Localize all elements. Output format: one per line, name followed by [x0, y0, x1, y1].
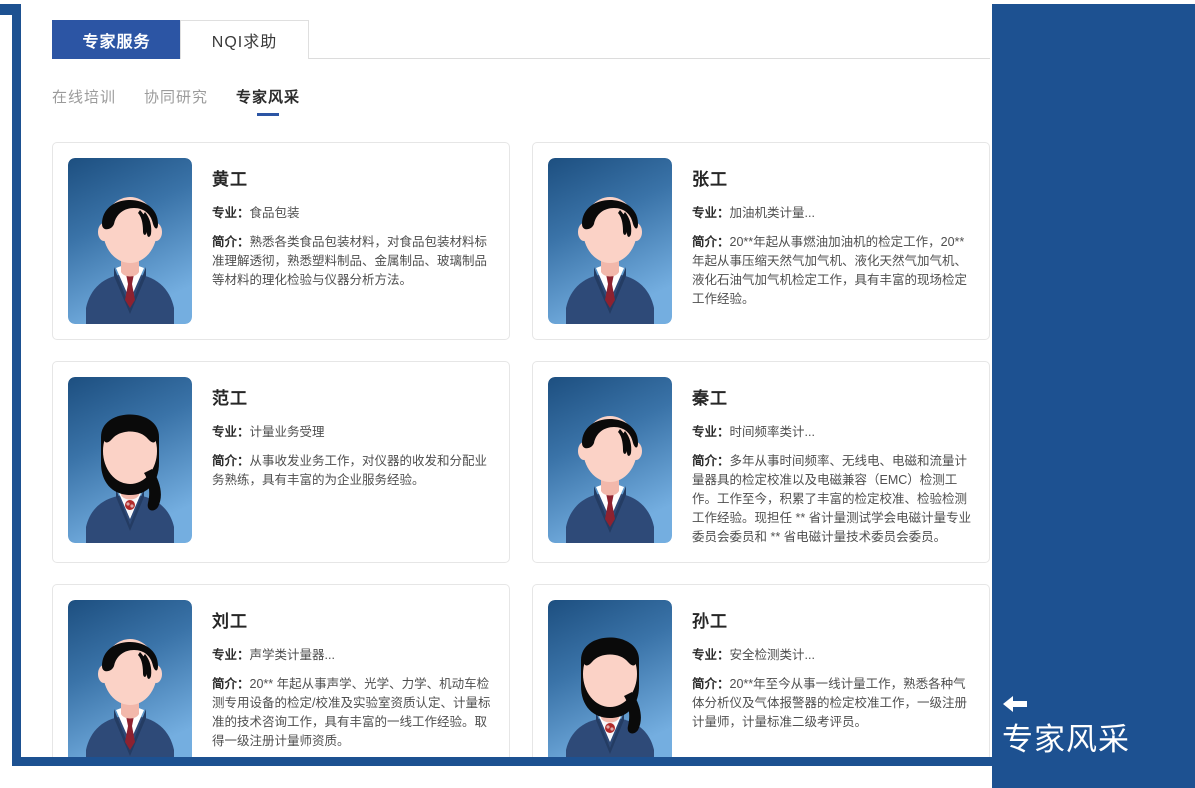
expert-name: 秦工 — [692, 384, 974, 409]
intro-label: 简介： — [692, 677, 730, 691]
avatar-male — [68, 158, 192, 324]
expert-intro-row: 简介：多年从事时间频率、无线电、电磁和流量计量器具的检定校准以及电磁兼容（EMC… — [692, 452, 974, 547]
expert-details: 刘工 专业：声学类计量器... 简介：20** 年起从事声学、光学、力学、机动车… — [212, 600, 494, 757]
subtab-collaborative-research[interactable]: 协同研究 — [144, 86, 208, 116]
expert-card-范工[interactable]: 范工 专业：计量业务受理 简介：从事收发业务工作，对仪器的收发和分配业务熟练，具… — [52, 361, 510, 563]
intro-value: 多年从事时间频率、无线电、电磁和流量计量器具的检定校准以及电磁兼容（EMC）检测… — [692, 454, 971, 544]
side-panel-label: 专家风采 — [1002, 694, 1182, 760]
expert-card-张工[interactable]: 张工 专业：加油机类计量... 简介：20**年起从事燃油加油机的检定工作，20… — [532, 142, 990, 340]
expert-details: 黄工 专业：食品包装 简介：熟悉各类食品包装材料，对食品包装材料标准理解透彻，熟… — [212, 158, 494, 324]
expert-card-秦工[interactable]: 秦工 专业：时间频率类计... 简介：多年从事时间频率、无线电、电磁和流量计量器… — [532, 361, 990, 563]
intro-value: 20**年起从事燃油加油机的检定工作，20**年起从事压缩天然气加气机、液化天然… — [692, 235, 967, 306]
expert-card-黄工[interactable]: 黄工 专业：食品包装 简介：熟悉各类食品包装材料，对食品包装材料标准理解透彻，熟… — [52, 142, 510, 340]
expert-name: 孙工 — [692, 607, 974, 632]
avatar-male — [548, 377, 672, 543]
avatar-female — [68, 377, 192, 543]
page-root: 专家风采 专家服务 NQI求助 在线培训 协同研究 — [0, 0, 1195, 788]
subtab-collaborative-research-label: 协同研究 — [144, 89, 208, 106]
expert-details: 张工 专业：加油机类计量... 简介：20**年起从事燃油加油机的检定工作，20… — [692, 158, 974, 324]
intro-label: 简介： — [212, 454, 250, 468]
tab-nqi-help-label: NQI求助 — [212, 28, 277, 52]
major-value: 时间频率类计... — [730, 425, 815, 439]
subtab-online-training-label: 在线培训 — [52, 89, 116, 106]
major-value: 计量业务受理 — [250, 425, 325, 439]
expert-major-row: 专业：加油机类计量... — [692, 204, 974, 223]
sub-tab-bar: 在线培训 协同研究 专家风采 — [52, 86, 300, 116]
subtab-expert-showcase[interactable]: 专家风采 — [236, 86, 300, 116]
major-label: 专业： — [692, 206, 730, 220]
subtab-expert-showcase-label: 专家风采 — [236, 89, 300, 106]
intro-label: 简介： — [212, 677, 250, 691]
tab-nqi-help[interactable]: NQI求助 — [180, 20, 309, 59]
intro-value: 熟悉各类食品包装材料，对食品包装材料标准理解透彻，熟悉塑料制品、金属制品、玻璃制… — [212, 235, 487, 287]
expert-details: 孙工 专业：安全检测类计... 简介：20**年至今从事一线计量工作，熟悉各种气… — [692, 600, 974, 757]
expert-name: 黄工 — [212, 165, 494, 190]
tab-expert-service[interactable]: 专家服务 — [52, 20, 181, 59]
intro-label: 简介： — [692, 235, 730, 249]
major-label: 专业： — [692, 648, 730, 662]
avatar-female — [548, 600, 672, 757]
content-window: 专家服务 NQI求助 在线培训 协同研究 专家风采 — [12, 4, 992, 766]
expert-intro-row: 简介：熟悉各类食品包装材料，对食品包装材料标准理解透彻，熟悉塑料制品、金属制品、… — [212, 233, 494, 290]
side-panel — [992, 4, 1195, 788]
expert-major-row: 专业：声学类计量器... — [212, 646, 494, 665]
avatar-male — [68, 600, 192, 757]
expert-card-grid: 黄工 专业：食品包装 简介：熟悉各类食品包装材料，对食品包装材料标准理解透彻，熟… — [52, 142, 990, 757]
side-panel-title: 专家风采 — [1002, 720, 1182, 760]
major-value: 加油机类计量... — [730, 206, 815, 220]
intro-label: 简介： — [692, 454, 730, 468]
major-label: 专业： — [212, 648, 250, 662]
arrow-left-icon[interactable] — [1002, 694, 1028, 714]
expert-name: 张工 — [692, 165, 974, 190]
content-window-inner: 专家服务 NQI求助 在线培训 协同研究 专家风采 — [21, 4, 992, 757]
expert-card-刘工[interactable]: 刘工 专业：声学类计量器... 简介：20** 年起从事声学、光学、力学、机动车… — [52, 584, 510, 757]
expert-name: 范工 — [212, 384, 494, 409]
expert-major-row: 专业：时间频率类计... — [692, 423, 974, 442]
major-value: 安全检测类计... — [730, 648, 815, 662]
expert-intro-row: 简介：20**年至今从事一线计量工作，熟悉各种气体分析仪及气体报警器的检定校准工… — [692, 675, 974, 732]
major-value: 食品包装 — [250, 206, 300, 220]
expert-card-孙工[interactable]: 孙工 专业：安全检测类计... 简介：20**年至今从事一线计量工作，熟悉各种气… — [532, 584, 990, 757]
expert-intro-row: 简介：从事收发业务工作，对仪器的收发和分配业务熟练，具有丰富的为企业服务经验。 — [212, 452, 494, 490]
intro-value: 20** 年起从事声学、光学、力学、机动车检测专用设备的检定/校准及实验室资质认… — [212, 677, 490, 748]
avatar-male — [548, 158, 672, 324]
expert-details: 范工 专业：计量业务受理 简介：从事收发业务工作，对仪器的收发和分配业务熟练，具… — [212, 377, 494, 547]
intro-value: 从事收发业务工作，对仪器的收发和分配业务熟练，具有丰富的为企业服务经验。 — [212, 454, 487, 487]
top-tab-bar: 专家服务 NQI求助 — [52, 20, 309, 59]
expert-intro-row: 简介：20**年起从事燃油加油机的检定工作，20**年起从事压缩天然气加气机、液… — [692, 233, 974, 309]
major-label: 专业： — [692, 425, 730, 439]
expert-major-row: 专业：食品包装 — [212, 204, 494, 223]
expert-name: 刘工 — [212, 607, 494, 632]
expert-major-row: 专业：计量业务受理 — [212, 423, 494, 442]
major-label: 专业： — [212, 425, 250, 439]
tab-expert-service-label: 专家服务 — [82, 28, 150, 52]
intro-label: 简介： — [212, 235, 250, 249]
major-label: 专业： — [212, 206, 250, 220]
major-value: 声学类计量器... — [250, 648, 335, 662]
expert-major-row: 专业：安全检测类计... — [692, 646, 974, 665]
intro-value: 20**年至今从事一线计量工作，熟悉各种气体分析仪及气体报警器的检定校准工作，一… — [692, 677, 967, 729]
expert-details: 秦工 专业：时间频率类计... 简介：多年从事时间频率、无线电、电磁和流量计量器… — [692, 377, 974, 547]
expert-intro-row: 简介：20** 年起从事声学、光学、力学、机动车检测专用设备的检定/校准及实验室… — [212, 675, 494, 751]
subtab-online-training[interactable]: 在线培训 — [52, 86, 116, 116]
